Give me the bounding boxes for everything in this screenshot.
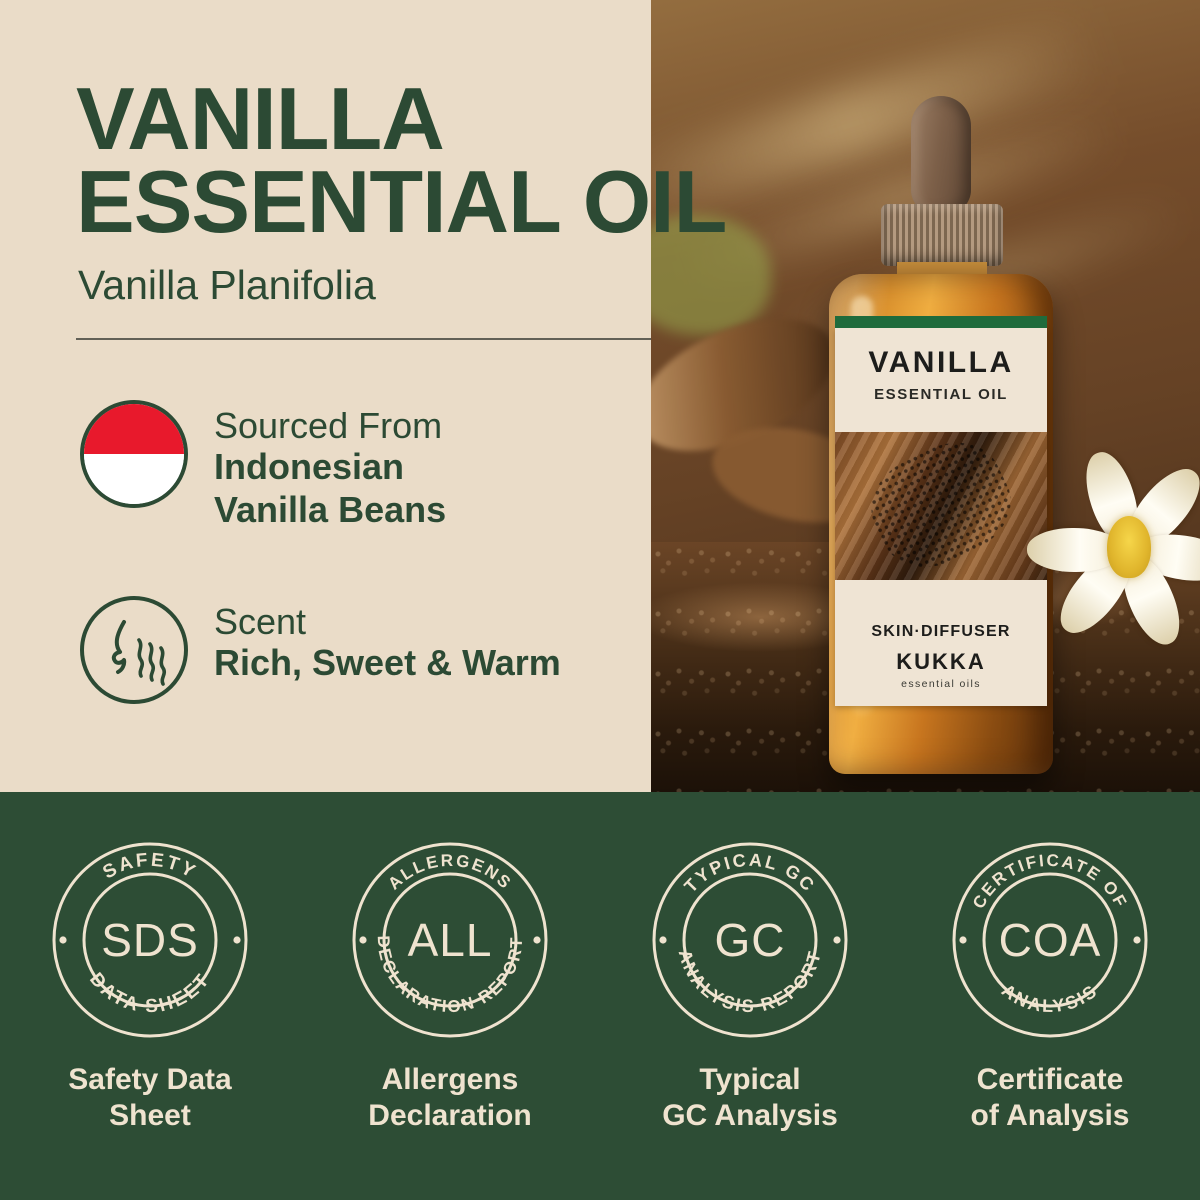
label-footer: SKIN·DIFFUSER KUKKA essential oils bbox=[835, 611, 1047, 706]
coa-seal-icon[interactable]: CERTIFICATE OF ANALYSIS COA bbox=[950, 840, 1150, 1040]
sds-seal-icon[interactable]: SAFETY DATA SHEET SDS bbox=[50, 840, 250, 1040]
top-section: VANILLA ESSENTIAL OIL SKIN·DIFFUSER KUKK… bbox=[0, 0, 1200, 792]
feature-scent: Scent Rich, Sweet & Warm bbox=[80, 596, 561, 704]
label-brand: KUKKA bbox=[841, 649, 1041, 675]
dropper-bulb-icon bbox=[911, 96, 971, 214]
label-brand-tagline: essential oils bbox=[841, 678, 1041, 690]
svg-text:CERTIFICATE OF: CERTIFICATE OF bbox=[969, 851, 1131, 912]
badge-row: SAFETY DATA SHEET SDS Safety Data Sheet bbox=[0, 792, 1200, 1134]
label-bean-image bbox=[835, 432, 1047, 580]
feature-label: Scent bbox=[214, 602, 561, 642]
oil-bottle: VANILLA ESSENTIAL OIL SKIN·DIFFUSER KUKK… bbox=[823, 96, 1059, 776]
seal-bottom-text: ANALYSIS bbox=[998, 980, 1102, 1016]
label-usage: SKIN·DIFFUSER bbox=[841, 623, 1041, 641]
background-flower bbox=[1121, 110, 1200, 230]
svg-text:ANALYSIS: ANALYSIS bbox=[998, 980, 1102, 1016]
feature-label: Sourced From bbox=[214, 406, 446, 446]
badge-coa[interactable]: CERTIFICATE OF ANALYSIS COA Certificate … bbox=[900, 792, 1200, 1134]
bottle-cap bbox=[881, 204, 1003, 266]
flower-center bbox=[1107, 516, 1151, 578]
seal-center-text: GC bbox=[715, 914, 786, 966]
header-divider bbox=[76, 338, 651, 340]
seal-center-text: ALL bbox=[408, 914, 493, 966]
feature-sourced-from: Sourced From Indonesian Vanilla Beans bbox=[80, 400, 446, 531]
documents-band: SAFETY DATA SHEET SDS Safety Data Sheet bbox=[0, 792, 1200, 1200]
vanilla-flower bbox=[1036, 452, 1200, 647]
indonesia-flag-icon bbox=[80, 400, 188, 508]
allergens-seal-icon[interactable]: ALLERGENS DECLARATION REPORT ALL bbox=[350, 840, 550, 1040]
seal-center-text: COA bbox=[999, 914, 1102, 966]
badge-caption: Certificate of Analysis bbox=[900, 1062, 1200, 1134]
badge-gc[interactable]: TYPICAL GC ANALYSIS REPORT GC Typical GC… bbox=[600, 792, 900, 1134]
page-subtitle: Vanilla Planifolia bbox=[78, 262, 376, 309]
seal-top-text: SAFETY bbox=[99, 850, 200, 884]
bottle-label: VANILLA ESSENTIAL OIL SKIN·DIFFUSER KUKK… bbox=[835, 328, 1047, 706]
badge-allergens[interactable]: ALLERGENS DECLARATION REPORT ALL Allerge… bbox=[300, 792, 600, 1134]
label-green-bar bbox=[835, 316, 1047, 328]
badge-caption: Safety Data Sheet bbox=[0, 1062, 300, 1134]
label-header: VANILLA ESSENTIAL OIL bbox=[835, 328, 1047, 413]
badge-caption: Allergens Declaration bbox=[300, 1062, 600, 1134]
svg-text:SAFETY: SAFETY bbox=[99, 850, 200, 884]
nose-scent-icon bbox=[80, 596, 188, 704]
flag-white-band bbox=[84, 454, 184, 504]
feature-text: Sourced From Indonesian Vanilla Beans bbox=[214, 400, 446, 531]
badge-caption: Typical GC Analysis bbox=[600, 1062, 900, 1134]
seal-bottom-text: DATA SHEET bbox=[85, 969, 215, 1017]
svg-text:DATA SHEET: DATA SHEET bbox=[85, 969, 215, 1017]
gc-seal-icon[interactable]: TYPICAL GC ANALYSIS REPORT GC bbox=[650, 840, 850, 1040]
flag-red-band bbox=[84, 404, 184, 454]
feature-text: Scent Rich, Sweet & Warm bbox=[214, 596, 561, 685]
product-infographic: VANILLA ESSENTIAL OIL SKIN·DIFFUSER KUKK… bbox=[0, 0, 1200, 1200]
badge-sds[interactable]: SAFETY DATA SHEET SDS Safety Data Sheet bbox=[0, 792, 300, 1134]
seal-center-text: SDS bbox=[101, 914, 199, 966]
seal-top-text: CERTIFICATE OF bbox=[969, 851, 1131, 912]
feature-value: Indonesian Vanilla Beans bbox=[214, 446, 446, 531]
label-product-title: VANILLA bbox=[841, 348, 1041, 378]
page-title: Vanilla Essential Oil bbox=[76, 78, 836, 243]
label-product-subtitle: ESSENTIAL OIL bbox=[841, 386, 1041, 403]
feature-value: Rich, Sweet & Warm bbox=[214, 642, 561, 684]
